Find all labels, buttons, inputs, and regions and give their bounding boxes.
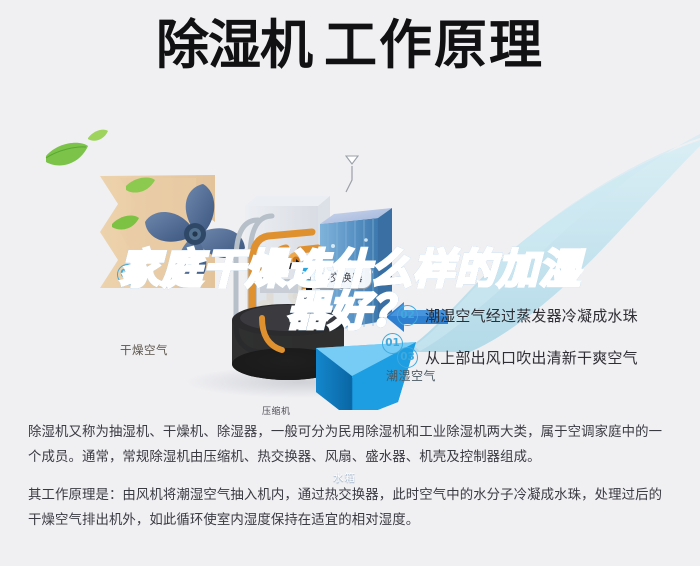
diagram-badge-03: 03 (117, 264, 138, 285)
page-title-part2: 工作原理 (324, 15, 544, 76)
caption-item-03: 03 从上部出风口吹出清新干爽空气 (397, 347, 638, 368)
caption-text-02: 潮湿空气经过蒸发器冷凝成水珠 (425, 305, 638, 326)
body-paragraph-1: 除湿机又称为抽湿机、干燥机、除湿器，一般可分为民用除湿机和工业除湿机两大类，属于… (28, 420, 674, 470)
infographic-page: 除湿机工作原理 (0, 0, 700, 566)
caption-badge-03: 03 (397, 347, 418, 368)
label-heat-exchanger: 热交换器 (319, 272, 363, 284)
page-title-part1: 除湿机 (156, 15, 312, 76)
caption-text-03: 从上部出风口吹出清新干爽空气 (425, 347, 638, 368)
caption-badge-02: 02 (397, 305, 418, 326)
body-paragraph-2: 其工作原理是：由风机将潮湿空气抽入机内，通过热交换器，此时空气中的水分子冷凝成水… (28, 483, 674, 533)
label-humid-air: 潮湿空气 (386, 367, 436, 384)
label-dry-air: 干燥空气 (120, 342, 168, 358)
caption-item-02: 02 潮湿空气经过蒸发器冷凝成水珠 (397, 305, 638, 326)
callout-heat-exchanger: 热交换器 (310, 262, 372, 289)
label-compressor: 压缩机 (262, 404, 291, 417)
body-copy: 除湿机又称为抽湿机、干燥机、除湿器，一般可分为民用除湿机和工业除湿机两大类，属于… (28, 420, 674, 533)
page-title: 除湿机工作原理 (0, 18, 700, 74)
